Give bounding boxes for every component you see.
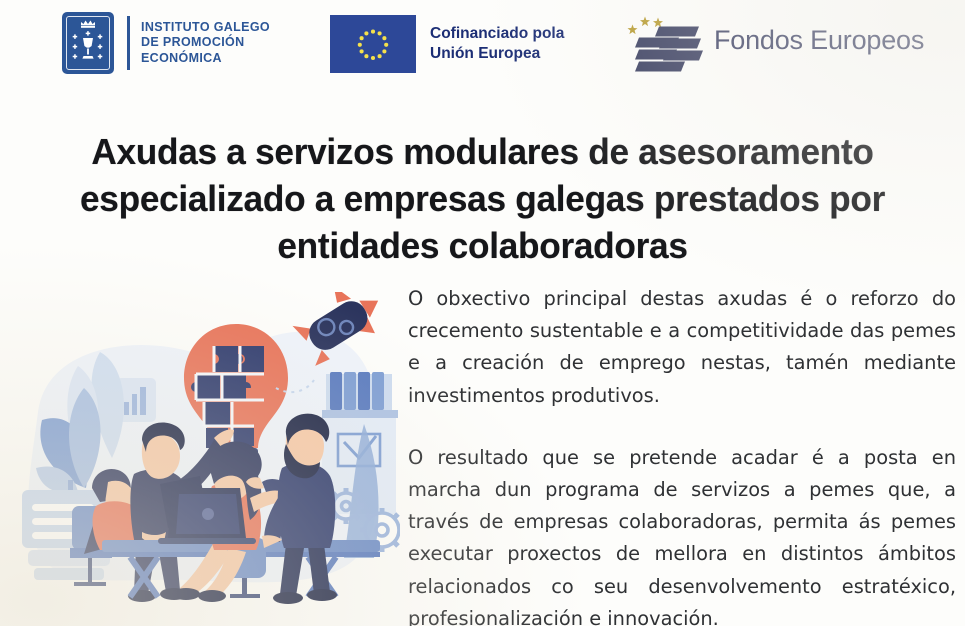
team-collaboration-illustration [8,292,400,614]
igape-line-1: INSTITUTO GALEGO [141,20,270,34]
title-line-1: Axudas a servizos modulares de asesorame… [40,128,925,175]
eu-cofunding-logo: Cofinanciado pola Unión Europea [330,15,564,73]
book-shelf [322,372,398,418]
body-paragraph-2: O resultado que se pretende acadar é a p… [408,442,956,626]
igape-wordmark: INSTITUTO GALEGO DE PROMOCIÓN ECONÓMICA [141,20,270,67]
title-line-2: especializado a empresas galegas prestad… [40,175,925,222]
body-text-column: O obxectivo principal destas axudas é o … [408,283,956,626]
igape-line-2: DE PROMOCIÓN [141,35,245,49]
page-title: Axudas a servizos modulares de asesorame… [40,128,925,269]
igape-logo: INSTITUTO GALEGO DE PROMOCIÓN ECONÓMICA [62,12,270,74]
title-line-3: entidades colaboradoras [40,222,925,269]
fondos-europeos-label: Fondos Europeos [714,25,924,55]
eu-line-1: Cofinanciado pola [430,25,564,42]
stepped-bars-icon [615,8,703,72]
poster-page: INSTITUTO GALEGO DE PROMOCIÓN ECONÓMICA [0,0,965,626]
eu-wordmark: Cofinanciado pola Unión Europea [430,24,564,64]
galicia-coat-of-arms-icon [62,12,114,74]
fondos-europeos-logo: Fondos Europeos [615,8,924,72]
eu-line-2: Unión Europea [430,45,540,62]
eu-flag-icon [330,15,416,73]
igape-divider [127,16,130,70]
body-paragraph-1: O obxectivo principal destas axudas é o … [408,283,956,412]
igape-line-3: ECONÓMICA [141,51,222,65]
logo-bar: INSTITUTO GALEGO DE PROMOCIÓN ECONÓMICA [0,0,965,88]
